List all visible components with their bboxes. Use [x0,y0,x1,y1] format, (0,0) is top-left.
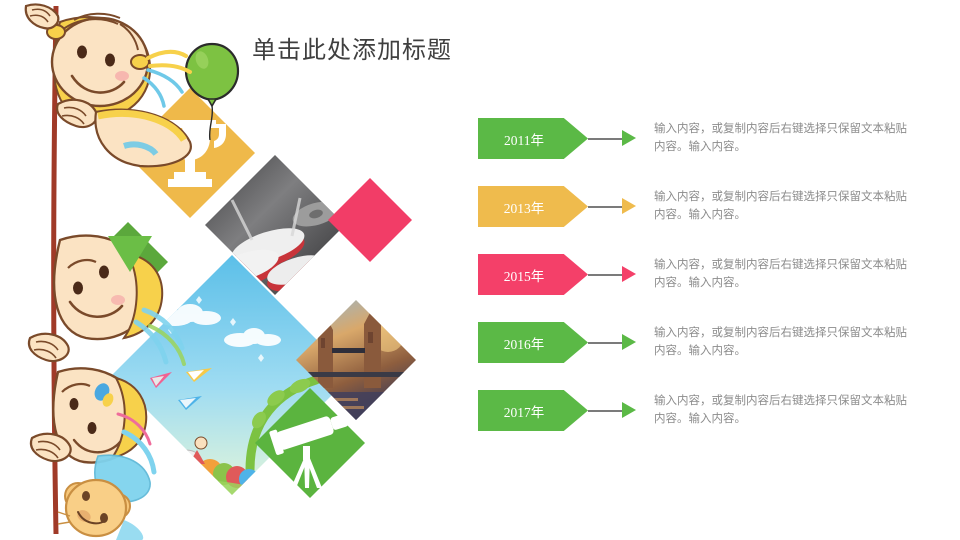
arrow-connector [588,118,640,159]
arrow-line [588,342,624,344]
year-banner[interactable]: 2016年 [478,322,588,363]
timeline-row[interactable]: 2011年 输入内容，或复制内容后右键选择只保留文本粘贴内容。输入内容。 [478,118,948,186]
timeline-body-text[interactable]: 输入内容，或复制内容后右键选择只保留文本粘贴内容。输入内容。 [640,186,909,225]
arrow-line [588,410,624,412]
children-illustration [26,4,191,540]
decorative-artwork [0,0,470,540]
year-label: 2017年 [504,401,563,421]
timeline-body-text[interactable]: 输入内容，或复制内容后右键选择只保留文本粘贴内容。输入内容。 [640,322,909,361]
year-banner[interactable]: 2011年 [478,118,588,159]
pink-accent-diamond [328,178,412,262]
timeline-body-text[interactable]: 输入内容，或复制内容后右键选择只保留文本粘贴内容。输入内容。 [640,118,909,157]
arrow-head-icon [622,130,636,146]
arrow-connector [588,254,640,295]
arrow-line [588,206,624,208]
arrow-connector [588,186,640,227]
arrow-connector [588,390,640,431]
timeline-row[interactable]: 2016年 输入内容，或复制内容后右键选择只保留文本粘贴内容。输入内容。 [478,322,948,390]
year-label: 2013年 [504,197,563,217]
year-banner-wrap[interactable]: 2013年 [478,186,588,227]
timeline-row[interactable]: 2013年 输入内容，或复制内容后右键选择只保留文本粘贴内容。输入内容。 [478,186,948,254]
arrow-head-icon [622,198,636,214]
year-banner[interactable]: 2013年 [478,186,588,227]
year-banner-wrap[interactable]: 2017年 [478,390,588,431]
timeline-row[interactable]: 2017年 输入内容，或复制内容后右键选择只保留文本粘贴内容。输入内容。 [478,390,948,458]
arrow-line [588,138,624,140]
timeline-list: 2011年 输入内容，或复制内容后右键选择只保留文本粘贴内容。输入内容。 201… [478,118,948,458]
arrow-line [588,274,624,276]
year-banner[interactable]: 2017年 [478,390,588,431]
timeline-body-text[interactable]: 输入内容，或复制内容后右键选择只保留文本粘贴内容。输入内容。 [640,390,909,429]
arrow-head-icon [622,334,636,350]
arrow-head-icon [622,402,636,418]
timeline-body-text[interactable]: 输入内容，或复制内容后右键选择只保留文本粘贴内容。输入内容。 [640,254,909,293]
year-label: 2016年 [504,333,563,353]
year-label: 2015年 [504,265,563,285]
year-banner-wrap[interactable]: 2016年 [478,322,588,363]
year-banner-wrap[interactable]: 2011年 [478,118,588,159]
timeline-row[interactable]: 2015年 输入内容，或复制内容后右键选择只保留文本粘贴内容。输入内容。 [478,254,948,322]
slide-canvas: 单击此处添加标题 [0,0,960,540]
child-top [26,4,191,166]
arrow-head-icon [622,266,636,282]
year-banner[interactable]: 2015年 [478,254,588,295]
year-banner-wrap[interactable]: 2015年 [478,254,588,295]
arrow-connector [588,322,640,363]
year-label: 2011年 [504,129,562,149]
